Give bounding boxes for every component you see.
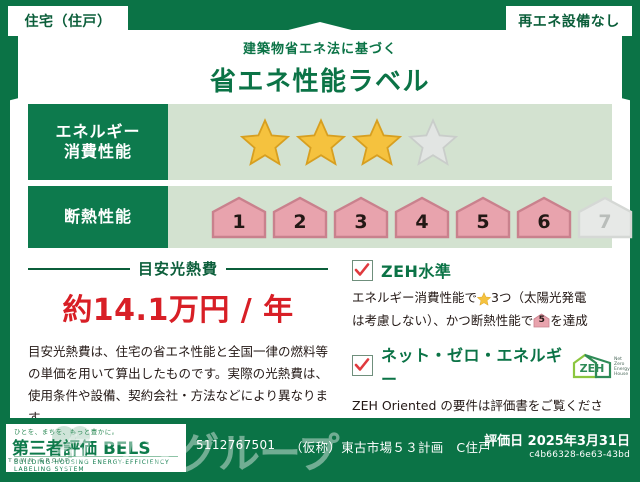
insulation-level-number: 3 — [332, 211, 390, 233]
check-icon — [352, 260, 373, 281]
rule-left — [28, 268, 130, 270]
star-empty-icon — [408, 118, 458, 166]
mini-house-icon: 5 — [533, 313, 550, 328]
zeh-standard-text: エネルギー消費性能で3つ（太陽光発電 は考慮しない）、かつ断熱性能で5を達成 — [352, 287, 614, 332]
energy-performance-body — [168, 104, 612, 180]
page-title: 省エネ性能ラベル — [0, 61, 640, 98]
zeh-insulation-badge: 5 — [533, 313, 550, 328]
insulation-level-house: 5 — [454, 195, 512, 239]
zeh-logo-subtext: Net Zero Energy House — [614, 357, 627, 378]
insulation-performance-header: 断熱性能 — [28, 186, 168, 248]
building-type-tag: 住宅（住戸） — [8, 6, 128, 36]
zeh-standard-text-b: 3つ（太陽光発電 — [491, 290, 586, 305]
energy-label-root: 住宅（住戸） 再エネ設備なし 建築物省エネ法に基づく 省エネ性能ラベル エネルギ… — [0, 0, 640, 478]
zeh-standard-text-a: エネルギー消費性能で — [352, 290, 477, 305]
insulation-level-number: 4 — [393, 211, 451, 233]
energy-performance-panel: エネルギー 消費性能 — [28, 104, 612, 180]
bels-subtitle: BUILDING-HOUSING ENERGY-EFFICIENCY LABEL… — [14, 459, 186, 473]
check-icon — [352, 355, 373, 376]
mini-star-icon — [477, 292, 491, 307]
renewable-equipment-tag: 再エネ設備なし — [506, 6, 632, 36]
insulation-level-house: 1 — [210, 195, 268, 239]
insulation-level-house: 3 — [332, 195, 390, 239]
insulation-performance-panel: 断熱性能 1234567 — [28, 186, 612, 248]
energy-header-line2: 消費性能 — [64, 142, 132, 162]
zeh-standard-text-c: は考慮しない）、かつ断熱性能で — [352, 313, 533, 328]
insulation-level-number: 1 — [210, 211, 268, 233]
utility-cost-value: 約14.1万円 / 年 — [28, 285, 328, 329]
insulation-level-number: 6 — [515, 211, 573, 233]
star-filled-icon — [240, 118, 290, 166]
insulation-level-number: 5 — [454, 211, 512, 233]
evaluation-uuid: c4b66328-6e63-43bd — [400, 450, 630, 460]
bels-divider — [14, 456, 178, 457]
zeh-standard-row: ZEH水準 — [352, 258, 614, 282]
evaluation-date: 評価日 2025年3月31日 — [400, 430, 630, 449]
star-filled-icon — [296, 118, 346, 166]
insulation-level-house: 4 — [393, 195, 451, 239]
insulation-level-number: 2 — [271, 211, 329, 233]
insulation-header-label: 断熱性能 — [64, 207, 132, 227]
zeh-logo-sub2: Energy House — [614, 367, 630, 377]
zeh-block: ZEH水準 エネルギー消費性能で3つ（太陽光発電 は考慮しない）、かつ断熱性能で… — [352, 258, 614, 437]
utility-cost-block: 目安光熱費 約14.1万円 / 年 目安光熱費は、住宅の省エネ性能と全国一律の燃… — [28, 258, 328, 429]
evaluation-date-value: 2025年3月31日 — [528, 434, 630, 449]
insulation-level-scale: 1234567 — [210, 195, 634, 239]
energy-header-line1: エネルギー — [55, 122, 140, 142]
net-zero-energy-label: ネット・ゼロ・エネルギー — [381, 342, 564, 390]
insulation-level-house: 2 — [271, 195, 329, 239]
title-subtitle: 建築物省エネ法に基づく — [0, 38, 640, 57]
title-block: 建築物省エネ法に基づく 省エネ性能ラベル — [0, 38, 640, 98]
utility-cost-title: 目安光熱費 — [138, 258, 218, 279]
evaluation-date-label: 評価日 — [484, 434, 523, 449]
bels-badge: ひとを、まちを、もっと豊かに。 第三者評価 BELS BUILDING-HOUS… — [6, 424, 186, 472]
zeh-standard-label: ZEH水準 — [381, 258, 451, 282]
star-rating — [240, 118, 458, 166]
registration-id: 5112767501 — [196, 438, 275, 452]
insulation-level-house: 6 — [515, 195, 573, 239]
insulation-level-number: 7 — [576, 211, 634, 233]
utility-cost-title-row: 目安光熱費 — [28, 258, 328, 279]
zeh-logo-sub1: Net Zero — [614, 357, 624, 367]
energy-performance-header: エネルギー 消費性能 — [28, 104, 168, 180]
bottom-info-bar: ひとを、まちを、もっと豊かに。 第三者評価 BELS BUILDING-HOUS… — [0, 418, 640, 478]
insulation-level-house: 7 — [576, 195, 634, 239]
rule-right — [226, 268, 328, 270]
net-zero-energy-row: ネット・ゼロ・エネルギー ZEH Net Zero Energy House — [352, 342, 614, 390]
star-filled-icon — [352, 118, 402, 166]
insulation-performance-body: 1234567 — [168, 186, 634, 248]
zeh-logo-icon: ZEH Net Zero Energy House — [572, 353, 614, 379]
zeh-standard-text-d: を達成 — [550, 313, 588, 328]
utility-cost-note: 目安光熱費は、住宅の省エネ性能と全国一律の燃料等の単価を用いて算出したものです。… — [28, 341, 328, 429]
svg-text:ZEH: ZEH — [580, 362, 605, 375]
